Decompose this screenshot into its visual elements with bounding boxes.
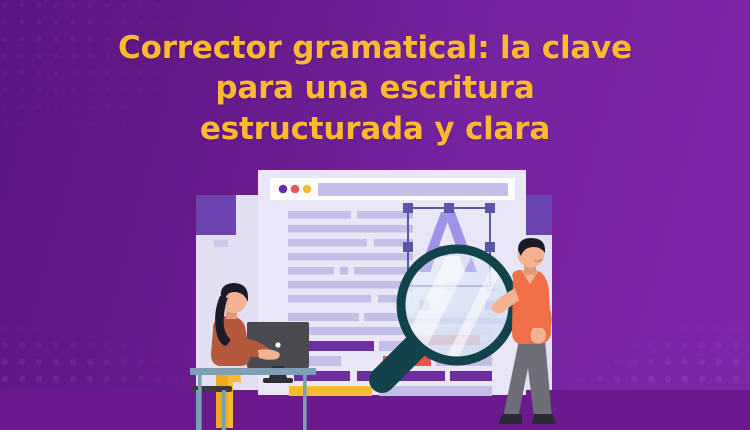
monitor-led-icon	[275, 342, 280, 347]
address-bar[interactable]	[318, 183, 508, 196]
highlight-yellow	[289, 386, 372, 396]
banner: Corrector gramatical: la clave para una …	[0, 0, 750, 430]
traffic-light-purple-icon[interactable]	[279, 185, 288, 194]
traffic-light-red-icon[interactable]	[291, 185, 300, 194]
traffic-light-yellow-icon[interactable]	[303, 185, 312, 194]
floor-band	[0, 390, 750, 430]
page-title: Corrector gramatical: la clave para una …	[0, 28, 750, 149]
highlight-purple-4	[450, 371, 492, 381]
browser-titlebar	[270, 178, 515, 200]
